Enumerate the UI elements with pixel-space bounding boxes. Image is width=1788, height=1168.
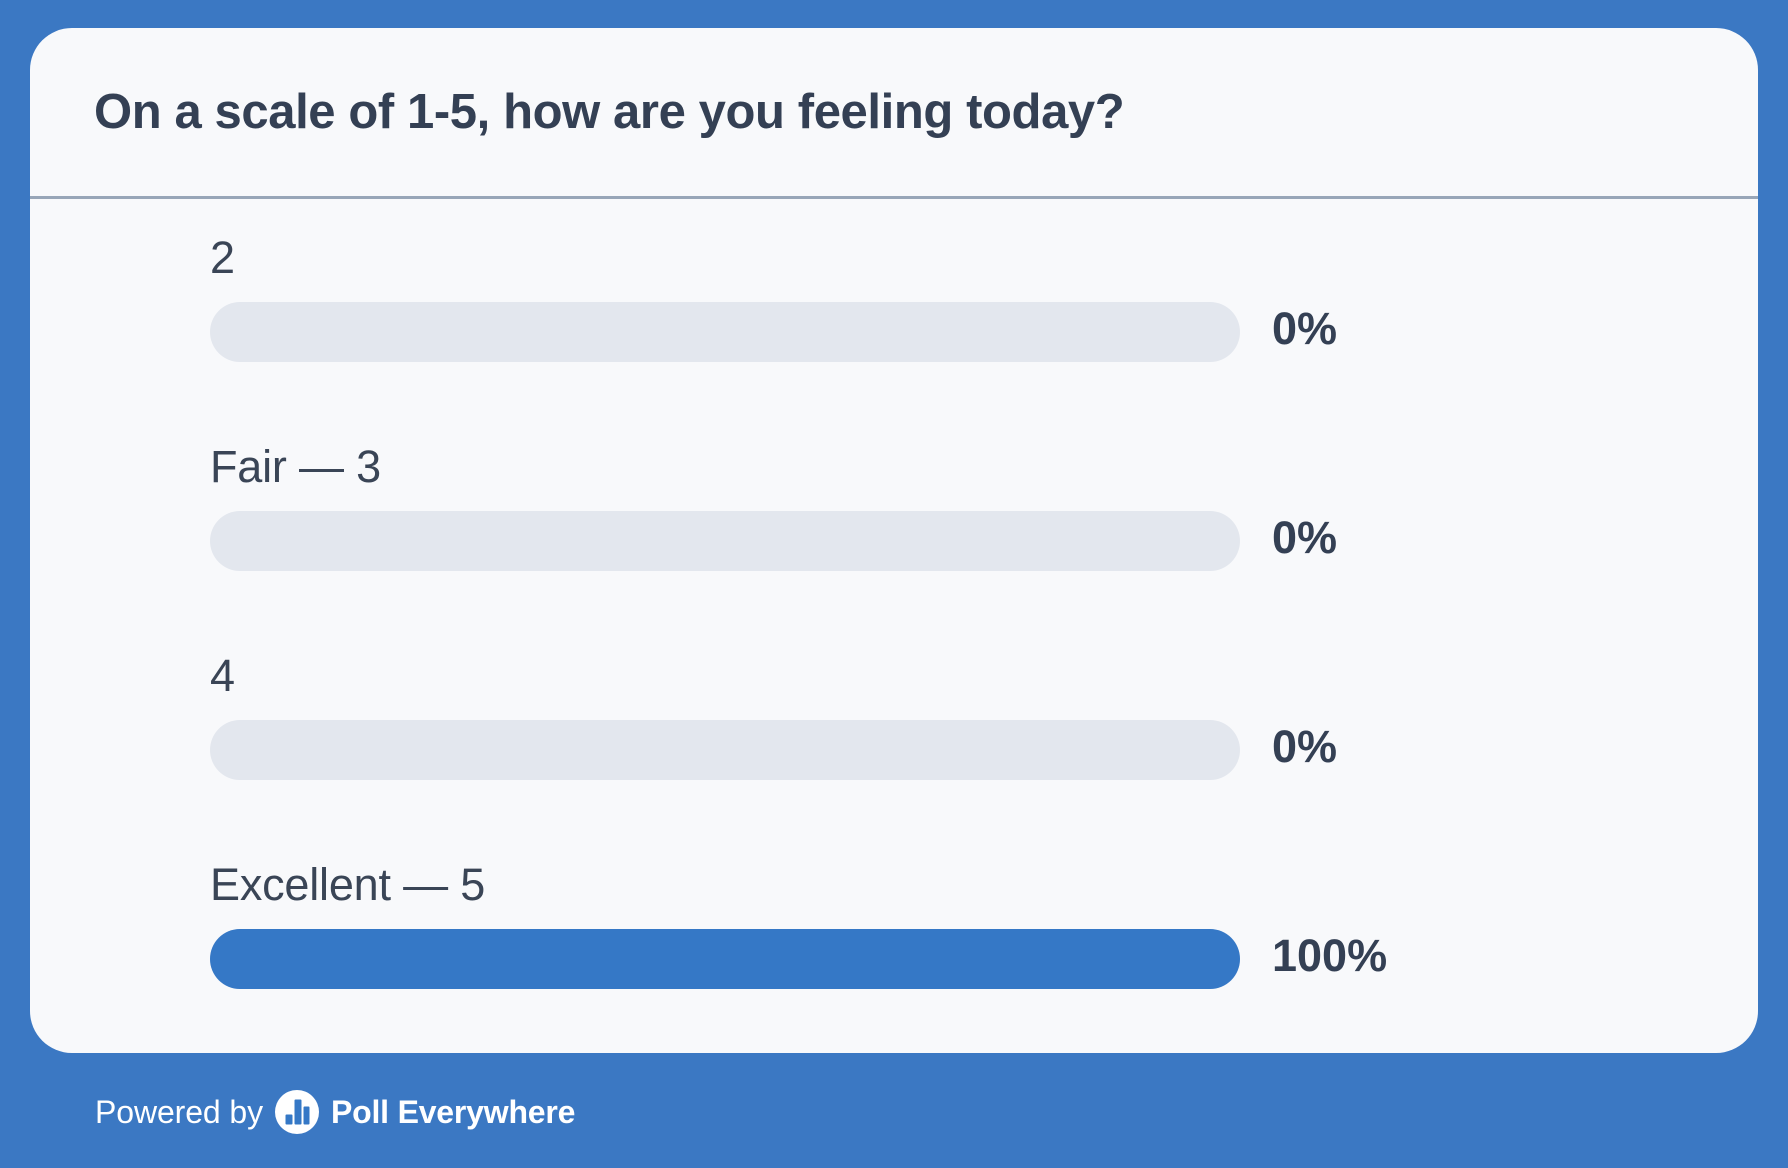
result-bar: 0% <box>210 302 1670 362</box>
result-percent: 0% <box>1272 508 1337 568</box>
brand-name-label: Poll Everywhere <box>331 1094 575 1131</box>
bar-track <box>210 720 1240 780</box>
option-label: Fair — 3 <box>210 441 381 493</box>
result-percent: 100% <box>1272 926 1387 986</box>
powered-by-branding: Powered by Poll Everywhere <box>95 1089 575 1135</box>
poll-question-title: On a scale of 1-5, how are you feeling t… <box>94 84 1694 140</box>
poll-results-list: 2 0% Fair — 3 0% 4 <box>30 196 1758 1053</box>
poll-result-row: Excellent — 5 100% <box>210 859 1670 1004</box>
bar-chart-circle-icon <box>275 1090 319 1134</box>
option-label: Excellent — 5 <box>210 859 485 911</box>
result-bar: 0% <box>210 511 1670 571</box>
result-percent: 0% <box>1272 299 1337 359</box>
bar-fill <box>210 929 1240 989</box>
poll-result-row: Fair — 3 0% <box>210 441 1670 586</box>
poll-card: On a scale of 1-5, how are you feeling t… <box>30 28 1758 1053</box>
result-bar: 100% <box>210 929 1670 989</box>
bar-track <box>210 929 1240 989</box>
option-label: 2 <box>210 232 235 284</box>
option-label: 4 <box>210 650 235 702</box>
result-percent: 0% <box>1272 717 1337 777</box>
result-bar: 0% <box>210 720 1670 780</box>
powered-by-label: Powered by <box>95 1094 263 1131</box>
bar-track <box>210 302 1240 362</box>
poll-result-row: 2 0% <box>210 232 1670 377</box>
bar-track <box>210 511 1240 571</box>
poll-result-row: 4 0% <box>210 650 1670 795</box>
